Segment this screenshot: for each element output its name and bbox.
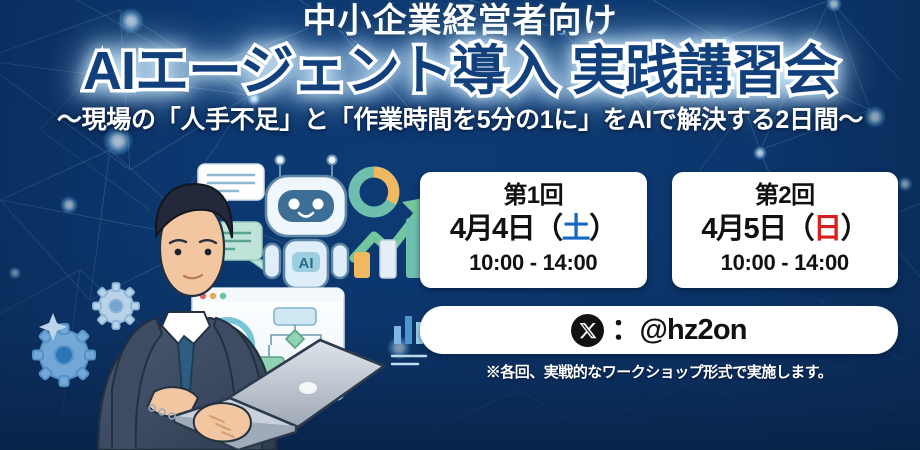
social-separator: ： bbox=[611, 314, 639, 346]
hero-illustration: AI bbox=[2, 140, 432, 450]
session-date-close: ） bbox=[589, 213, 617, 245]
session-card-1[interactable]: 第1回 4月4日（土） 10:00 - 14:00 bbox=[420, 172, 647, 288]
headline-block: 中小企業経営者向け AIエージェント導入 実践講習会 〜現場の「人手不足」と「作… bbox=[0, 0, 920, 135]
session-cards: 第1回 4月4日（土） 10:00 - 14:00 第2回 4月5日（日） 10… bbox=[420, 172, 898, 288]
robot-ai-badge: AI bbox=[299, 255, 314, 272]
subtitle-text: 〜現場の「人手不足」と「作業時間を5分の1に」をAIで解決する2日間〜 bbox=[57, 106, 863, 135]
eyebrow-text: 中小企業経営者向け bbox=[0, 4, 920, 38]
info-panel: 第1回 4月4日（土） 10:00 - 14:00 第2回 4月5日（日） 10… bbox=[420, 172, 898, 382]
footnote-text: ※各回、実戦的なワークショップ形式で実施します。 bbox=[420, 361, 898, 382]
social-handle-value: @hz2on bbox=[639, 314, 746, 346]
x-logo-icon[interactable] bbox=[571, 314, 604, 347]
page-title: AIエージェント導入 実践講習会 bbox=[0, 44, 920, 98]
session-time: 10:00 - 14:00 bbox=[676, 249, 895, 278]
typing-hand bbox=[194, 403, 251, 441]
session-date-close: ） bbox=[841, 213, 869, 245]
session-day-of-week: 土 bbox=[562, 213, 590, 245]
social-handle-text: ：@hz2on bbox=[611, 316, 746, 345]
robot-icon: AI bbox=[264, 156, 348, 289]
session-time: 10:00 - 14:00 bbox=[424, 249, 643, 278]
social-handle-pill[interactable]: ：@hz2on bbox=[420, 306, 898, 354]
face bbox=[156, 184, 232, 296]
session-label: 第2回 bbox=[676, 181, 895, 211]
session-date: 4月5日（日） bbox=[676, 211, 895, 249]
session-label: 第1回 bbox=[424, 181, 643, 211]
donut-chart-icon bbox=[354, 172, 394, 212]
session-date: 4月4日（土） bbox=[424, 211, 643, 249]
session-day-of-week: 日 bbox=[813, 213, 841, 245]
session-date-md: 4月4日（ bbox=[450, 213, 562, 245]
session-date-md: 4月5日（ bbox=[701, 213, 813, 245]
seminar-banner: AI bbox=[0, 0, 920, 450]
session-card-2[interactable]: 第2回 4月5日（日） 10:00 - 14:00 bbox=[672, 172, 899, 288]
